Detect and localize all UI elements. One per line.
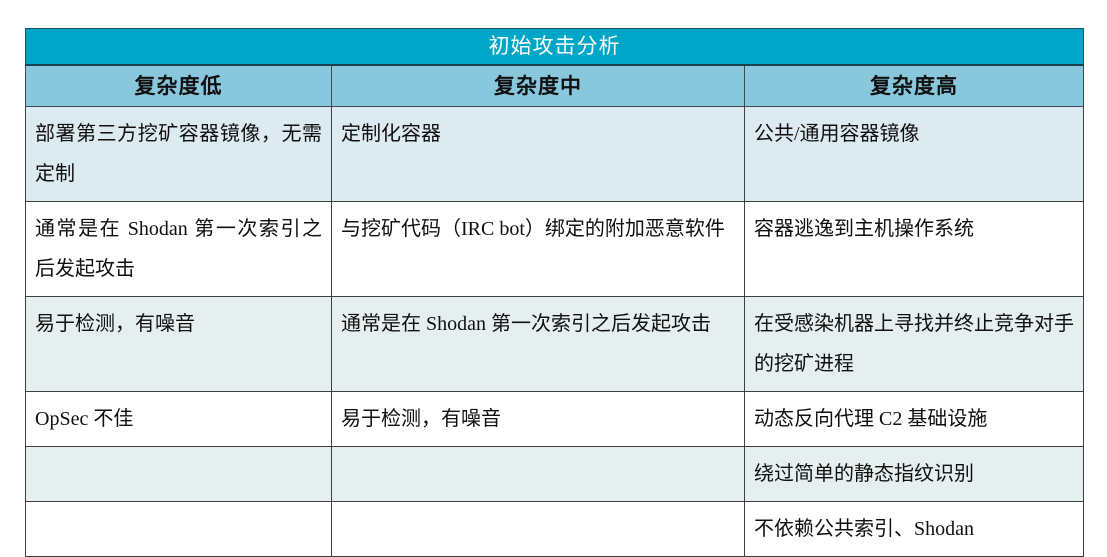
column-header-medium: 复杂度中 (332, 65, 745, 107)
table-row: 绕过简单的静态指纹识别 (26, 447, 1084, 502)
column-header-high-label: 复杂度高 (745, 67, 1083, 105)
column-header-low: 复杂度低 (26, 65, 332, 107)
cell-low-2: 通常是在 Shodan 第一次索引之后发起攻击 (26, 202, 332, 297)
cell-text: 不依赖公共索引、Shodan (754, 509, 1074, 549)
cell-high-6: 不依赖公共索引、Shodan (745, 502, 1084, 557)
table-row: 通常是在 Shodan 第一次索引之后发起攻击 与挖矿代码（IRC bot）绑定… (26, 202, 1084, 297)
cell-text: OpSec 不佳 (35, 399, 322, 439)
cell-medium-3: 通常是在 Shodan 第一次索引之后发起攻击 (332, 297, 745, 392)
cell-text (341, 509, 735, 510)
cell-text (341, 454, 735, 455)
cell-text: 在受感染机器上寻找并终止竞争对手的挖矿进程 (754, 304, 1074, 384)
cell-low-1: 部署第三方挖矿容器镜像，无需定制 (26, 107, 332, 202)
cell-low-4: OpSec 不佳 (26, 392, 332, 447)
cell-text: 公共/通用容器镜像 (754, 114, 1074, 154)
cell-medium-6 (332, 502, 745, 557)
cell-text: 通常是在 Shodan 第一次索引之后发起攻击 (35, 209, 322, 289)
cell-text: 动态反向代理 C2 基础设施 (754, 399, 1074, 439)
cell-high-5: 绕过简单的静态指纹识别 (745, 447, 1084, 502)
table-header-row: 复杂度低 复杂度中 复杂度高 (26, 65, 1084, 107)
page-root: 自公网 初始攻击分析 复杂度低 复杂度中 (0, 0, 1107, 500)
column-header-high: 复杂度高 (745, 65, 1084, 107)
cell-text: 易于检测，有噪音 (35, 304, 322, 344)
cell-high-1: 公共/通用容器镜像 (745, 107, 1084, 202)
cell-low-5 (26, 447, 332, 502)
table-row: 部署第三方挖矿容器镜像，无需定制 定制化容器 公共/通用容器镜像 (26, 107, 1084, 202)
cell-text: 通常是在 Shodan 第一次索引之后发起攻击 (341, 304, 735, 344)
column-header-medium-label: 复杂度中 (332, 67, 744, 105)
cell-text (35, 454, 322, 455)
cell-text: 部署第三方挖矿容器镜像，无需定制 (35, 114, 322, 194)
table-row: OpSec 不佳 易于检测，有噪音 动态反向代理 C2 基础设施 (26, 392, 1084, 447)
cell-text: 与挖矿代码（IRC bot）绑定的附加恶意软件 (341, 209, 735, 249)
cell-medium-2: 与挖矿代码（IRC bot）绑定的附加恶意软件 (332, 202, 745, 297)
cell-text: 易于检测，有噪音 (341, 399, 735, 439)
table-title: 初始攻击分析 (26, 30, 1083, 63)
cell-medium-4: 易于检测，有噪音 (332, 392, 745, 447)
cell-text: 绕过简单的静态指纹识别 (754, 454, 1074, 494)
attack-analysis-table-container: 初始攻击分析 复杂度低 复杂度中 复杂度高 部署第三 (25, 28, 1083, 557)
table-row: 易于检测，有噪音 通常是在 Shodan 第一次索引之后发起攻击 在受感染机器上… (26, 297, 1084, 392)
cell-low-3: 易于检测，有噪音 (26, 297, 332, 392)
attack-analysis-table: 初始攻击分析 复杂度低 复杂度中 复杂度高 部署第三 (25, 28, 1084, 557)
column-header-low-label: 复杂度低 (26, 67, 331, 105)
cell-text: 容器逃逸到主机操作系统 (754, 209, 1074, 249)
table-title-cell: 初始攻击分析 (26, 29, 1084, 66)
table-title-row: 初始攻击分析 (26, 29, 1084, 66)
cell-high-2: 容器逃逸到主机操作系统 (745, 202, 1084, 297)
cell-low-6 (26, 502, 332, 557)
cell-text (35, 509, 322, 510)
table-row: 不依赖公共索引、Shodan (26, 502, 1084, 557)
cell-medium-5 (332, 447, 745, 502)
cell-high-4: 动态反向代理 C2 基础设施 (745, 392, 1084, 447)
cell-high-3: 在受感染机器上寻找并终止竞争对手的挖矿进程 (745, 297, 1084, 392)
cell-text: 定制化容器 (341, 114, 735, 154)
cell-medium-1: 定制化容器 (332, 107, 745, 202)
